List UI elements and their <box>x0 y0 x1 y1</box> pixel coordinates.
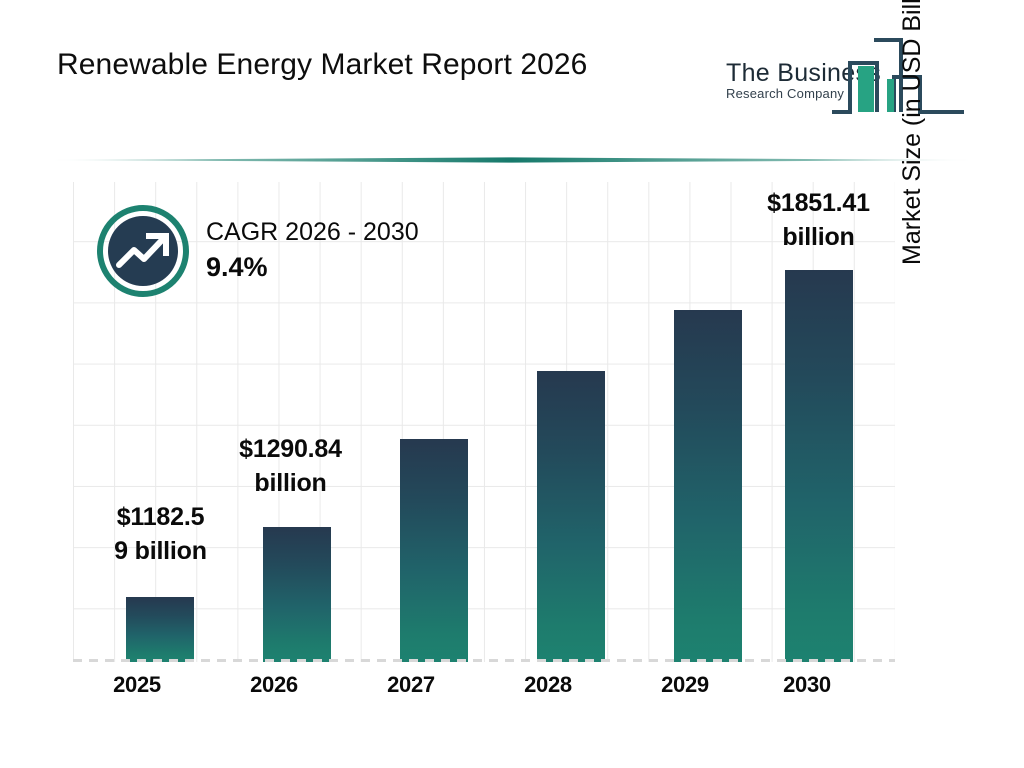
y-axis-label: Market Size (in USD Billion) <box>898 0 927 265</box>
x-tick-2030: 2030 <box>760 672 854 698</box>
cagr-value-label: 9.4% <box>206 249 419 286</box>
trending-up-arrow-icon <box>97 205 189 297</box>
cagr-badge: CAGR 2026 - 2030 9.4% <box>97 205 497 305</box>
bar-2027[interactable] <box>400 439 468 662</box>
bar-2030[interactable] <box>785 270 853 662</box>
bar-chart: $1182.5 9 billion $1290.84 billion $1851… <box>0 0 1024 768</box>
bar-2025[interactable] <box>126 597 194 662</box>
value-label-2030: $1851.41 billion <box>741 186 896 254</box>
bar-2028[interactable] <box>537 371 605 662</box>
bar-2029[interactable] <box>674 310 742 662</box>
x-tick-2025: 2025 <box>90 672 184 698</box>
cagr-period-label: CAGR 2026 - 2030 <box>206 216 419 249</box>
x-tick-2026: 2026 <box>227 672 321 698</box>
chart-baseline <box>73 659 895 662</box>
value-label-2025: $1182.5 9 billion <box>90 500 231 568</box>
x-tick-2027: 2027 <box>364 672 458 698</box>
bar-2026[interactable] <box>263 527 331 662</box>
x-tick-2029: 2029 <box>638 672 732 698</box>
x-tick-2028: 2028 <box>501 672 595 698</box>
cagr-text-block: CAGR 2026 - 2030 9.4% <box>206 216 419 286</box>
value-label-2026: $1290.84 billion <box>213 432 368 500</box>
